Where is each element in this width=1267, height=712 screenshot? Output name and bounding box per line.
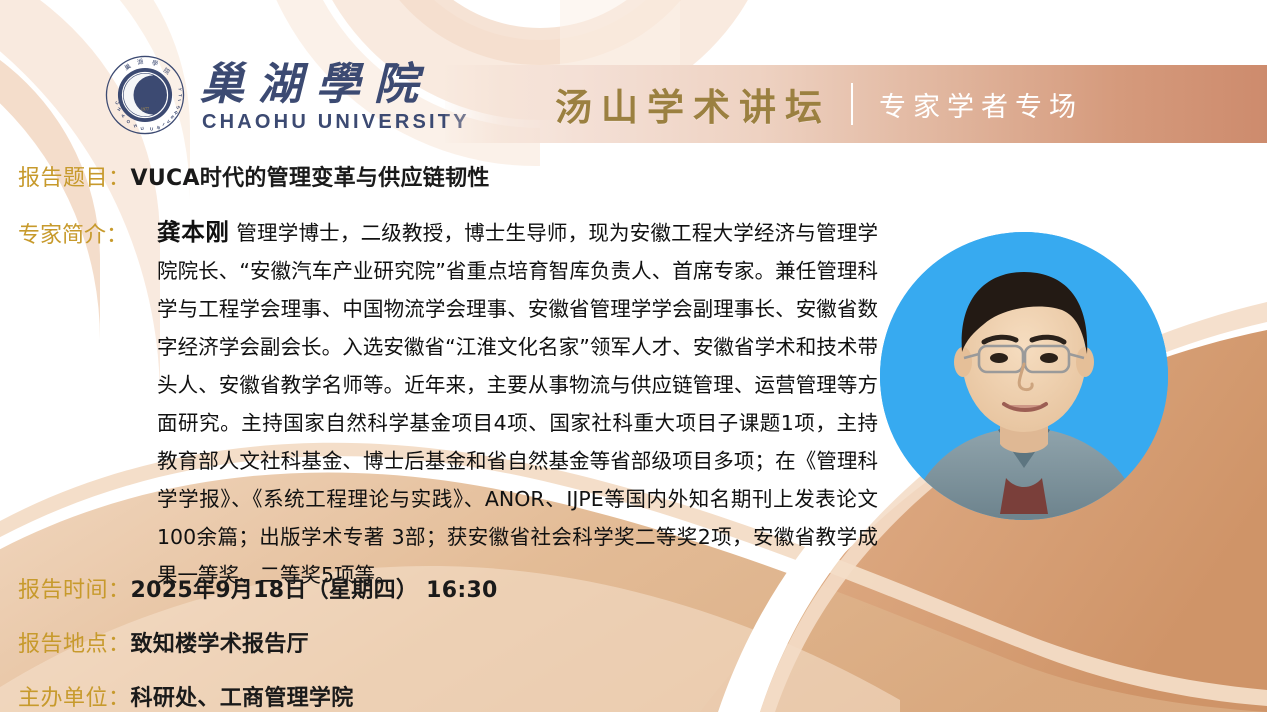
report-time-value: 2025年9月18日（星期四） 16:30 bbox=[131, 572, 498, 604]
svg-text:U: U bbox=[150, 126, 154, 131]
svg-text:H: H bbox=[133, 123, 138, 129]
speaker-bio-paragraph: 管理学博士，二级教授，博士生导师，现为安徽工程大学经济与管理学院院长、“安徽汽车… bbox=[157, 221, 878, 587]
svg-text:湖: 湖 bbox=[136, 57, 144, 66]
report-place-value: 致知楼学术报告厅 bbox=[131, 626, 309, 658]
report-host-row: 主办单位： 科研处、工商管理学院 bbox=[18, 680, 354, 712]
forum-title: 汤山学术讲坛 bbox=[555, 77, 831, 131]
svg-text:N: N bbox=[156, 125, 161, 131]
report-time-row: 报告时间： 2025年9月18日（星期四） 16:30 bbox=[18, 572, 498, 604]
university-name-cn-wordmark: 巢湖學院 bbox=[200, 56, 470, 110]
speaker-name: 龚本刚 bbox=[157, 218, 230, 246]
report-title-label: 报告题目： bbox=[18, 160, 131, 192]
svg-text:巢湖學院: 巢湖學院 bbox=[200, 59, 432, 110]
speaker-bio-label: 专家简介： bbox=[18, 217, 128, 249]
speaker-portrait-photo-icon bbox=[880, 232, 1168, 520]
svg-text:I: I bbox=[162, 122, 165, 127]
speaker-bio-block: 专家简介： 龚本刚 管理学博士，二级教授，博士生导师，现为安徽工程大学经济与管理… bbox=[18, 213, 878, 594]
report-place-label: 报告地点： bbox=[18, 626, 131, 658]
report-host-label: 主办单位： bbox=[18, 680, 131, 712]
report-time-label: 报告时间： bbox=[18, 572, 131, 604]
svg-text:S: S bbox=[175, 105, 181, 110]
poster-header: 1977 巢 湖 學 院 C H A O H U U N I V bbox=[0, 0, 1267, 150]
report-place-row: 报告地点： 致知楼学术报告厅 bbox=[18, 626, 309, 658]
svg-text:院: 院 bbox=[162, 66, 171, 76]
svg-text:U: U bbox=[140, 126, 144, 131]
forum-subtitle: 专家学者专场 bbox=[879, 85, 1083, 124]
svg-text:O: O bbox=[126, 118, 132, 124]
seminar-poster: 1977 巢 湖 學 院 C H A O H U U N I V bbox=[0, 0, 1267, 712]
speaker-bio-text: 龚本刚 管理学博士，二级教授，博士生导师，现为安徽工程大学经济与管理学院院长、“… bbox=[18, 213, 878, 594]
university-logo: 1977 巢 湖 學 院 C H A O H U U N I V bbox=[104, 54, 470, 136]
chaohu-university-seal-icon: 1977 巢 湖 學 院 C H A O H U U N I V bbox=[104, 54, 186, 136]
report-title-value: VUCA时代的管理变革与供应链韧性 bbox=[131, 160, 490, 192]
forum-banner: 汤山学术讲坛 专家学者专场 bbox=[445, 65, 1267, 143]
report-host-value: 科研处、工商管理学院 bbox=[131, 680, 354, 712]
svg-text:I: I bbox=[177, 99, 182, 101]
svg-text:學: 學 bbox=[151, 59, 159, 68]
university-name-en: CHAOHU UNIVERSITY bbox=[202, 111, 470, 134]
report-title-row: 报告题目： VUCA时代的管理变革与供应链韧性 bbox=[18, 160, 490, 192]
svg-text:巢: 巢 bbox=[123, 62, 132, 72]
speaker-portrait bbox=[880, 232, 1168, 520]
svg-text:T: T bbox=[178, 94, 183, 97]
svg-text:1977: 1977 bbox=[141, 107, 149, 112]
svg-text:Y: Y bbox=[177, 88, 182, 91]
banner-divider bbox=[851, 83, 853, 125]
